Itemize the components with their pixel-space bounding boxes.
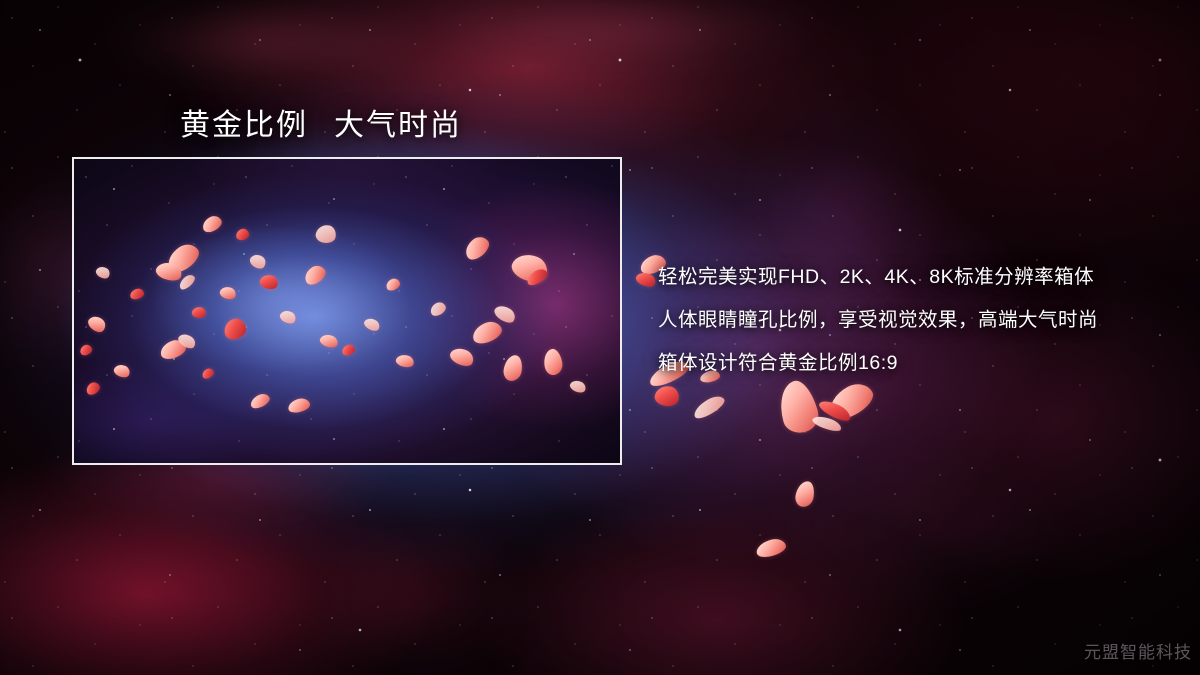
title-segment-2: 大气时尚 bbox=[334, 109, 462, 142]
body-line-3: 箱体设计符合黄金比例16:9 bbox=[658, 342, 1178, 385]
inset-nebula-wisps bbox=[74, 159, 620, 463]
body-line-1: 轻松完美实现FHD、2K、4K、8K标准分辨率箱体 bbox=[658, 256, 1178, 299]
body-text-block: 轻松完美实现FHD、2K、4K、8K标准分辨率箱体 人体眼睛瞳孔比例，享受视觉效… bbox=[658, 256, 1178, 385]
page-title: 黄金比例大气时尚 bbox=[180, 100, 462, 144]
presentation-slide: 黄金比例大气时尚 轻松完美实现FHD、2K、4K、8K标准分辨率箱体 人体眼睛瞳… bbox=[0, 0, 1200, 675]
framed-inset-image bbox=[72, 157, 622, 465]
watermark-text: 元盟智能科技 bbox=[1084, 638, 1192, 663]
title-segment-1: 黄金比例 bbox=[180, 109, 308, 142]
body-line-2: 人体眼睛瞳孔比例，享受视觉效果，高端大气时尚 bbox=[658, 299, 1178, 342]
inset-nebula-image bbox=[74, 159, 620, 463]
